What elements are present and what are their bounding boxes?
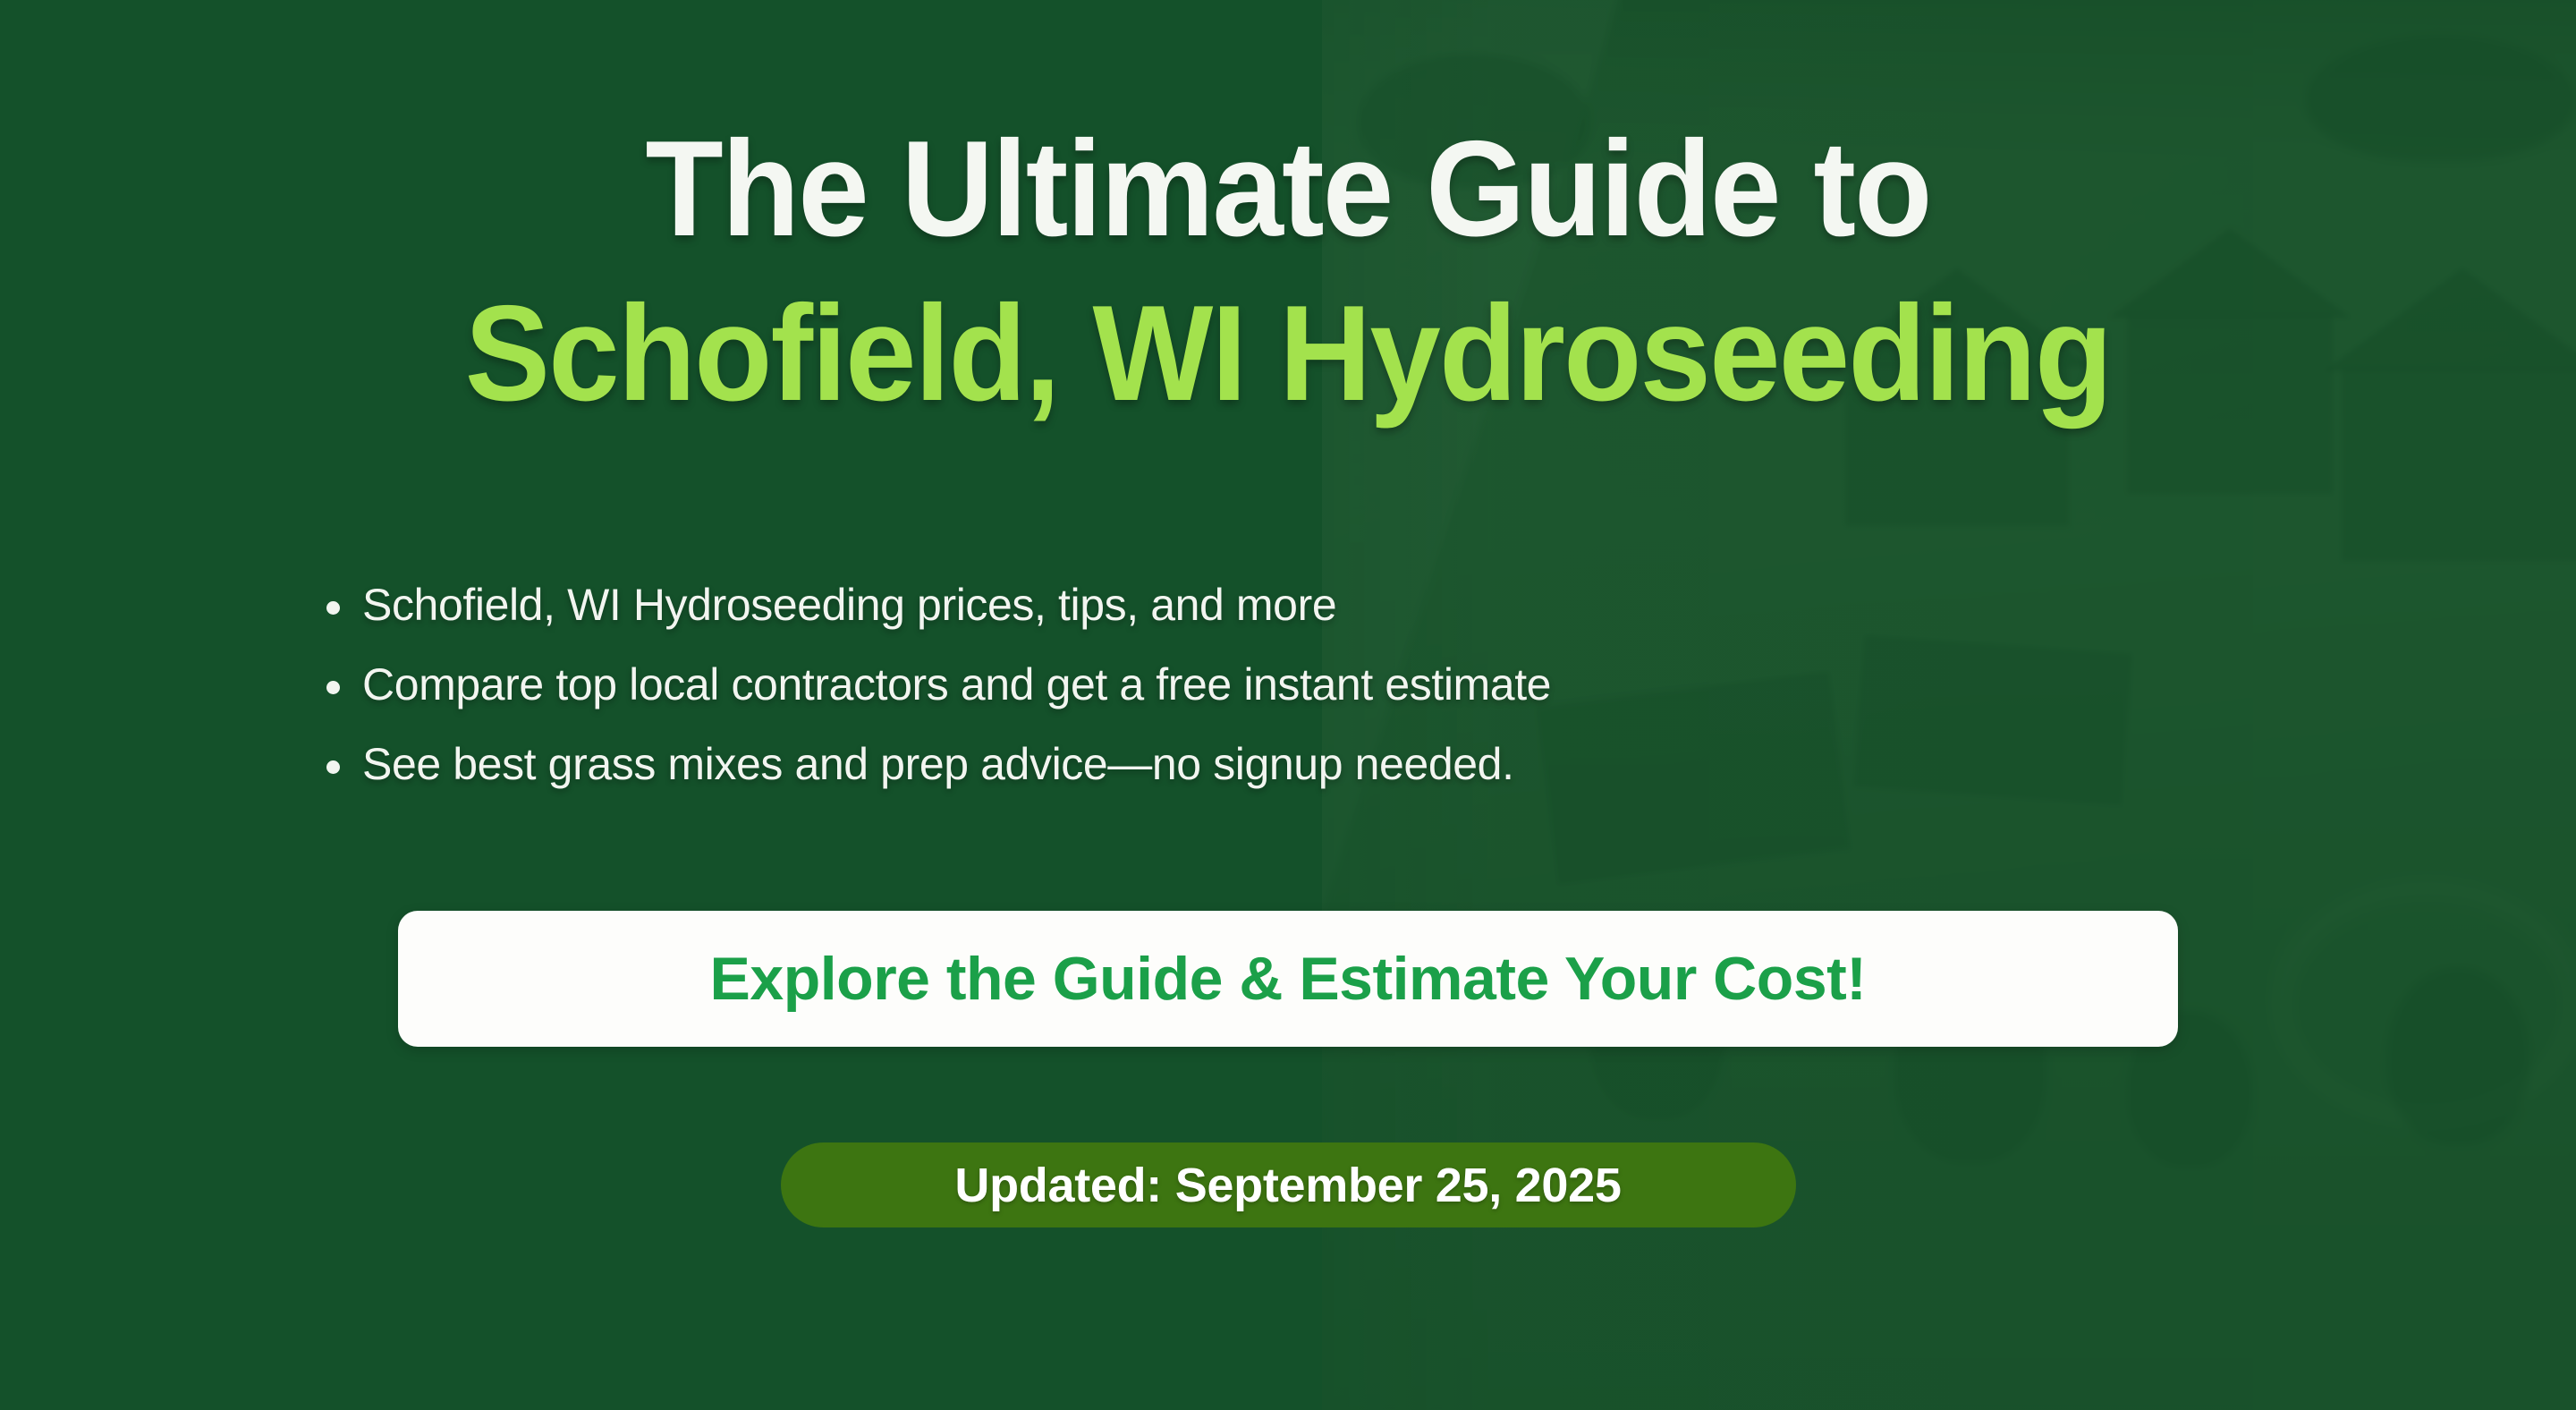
headline-line-primary: The Ultimate Guide to xyxy=(77,107,2498,272)
page-title: The Ultimate Guide to Schofield, WI Hydr… xyxy=(77,107,2498,437)
list-item: See best grass mixes and prep advice—no … xyxy=(309,737,1514,792)
banner-content: The Ultimate Guide to Schofield, WI Hydr… xyxy=(0,0,2576,1410)
list-item-label: See best grass mixes and prep advice—no … xyxy=(362,737,1514,792)
cta-container: Explore the Guide & Estimate Your Cost! xyxy=(0,911,2576,1047)
benefits-list: Schofield, WI Hydroseeding prices, tips,… xyxy=(309,578,2294,817)
list-item-label: Schofield, WI Hydroseeding prices, tips,… xyxy=(362,578,1336,633)
bullet-dot-icon xyxy=(326,760,340,774)
explore-guide-button[interactable]: Explore the Guide & Estimate Your Cost! xyxy=(398,911,2178,1047)
list-item: Schofield, WI Hydroseeding prices, tips,… xyxy=(309,578,1336,633)
bullet-dot-icon xyxy=(326,681,340,694)
headline-line-accent: Schofield, WI Hydroseeding xyxy=(77,272,2498,437)
list-item: Compare top local contractors and get a … xyxy=(309,658,1551,712)
hero-banner: The Ultimate Guide to Schofield, WI Hydr… xyxy=(0,0,2576,1410)
updated-date-badge: Updated: September 25, 2025 xyxy=(781,1142,1796,1227)
badge-container: Updated: September 25, 2025 xyxy=(0,1142,2576,1227)
bullet-dot-icon xyxy=(326,601,340,615)
headline-block: The Ultimate Guide to Schofield, WI Hydr… xyxy=(0,107,2576,437)
list-item-label: Compare top local contractors and get a … xyxy=(362,658,1551,712)
